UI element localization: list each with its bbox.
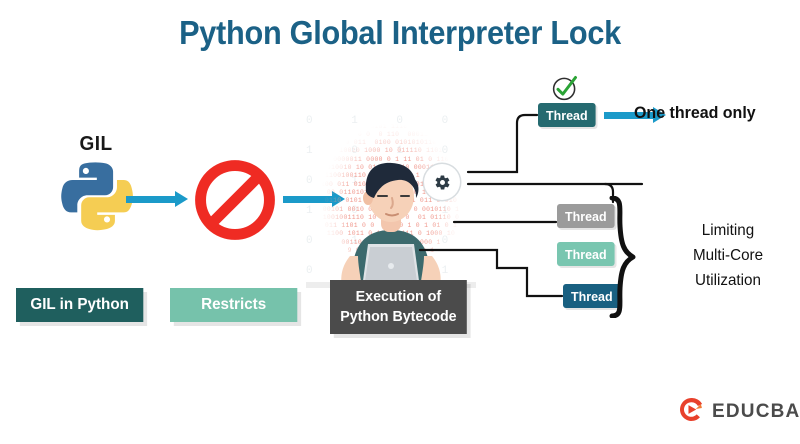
thread-box-top[interactable]: Thread <box>538 103 596 127</box>
thread-box-gray[interactable]: Thread <box>557 204 615 228</box>
limiting-line-3: Utilization <box>671 268 785 293</box>
chip-restricts[interactable]: Restricts <box>170 288 297 322</box>
one-thread-only-text: One thread only <box>634 103 756 123</box>
curly-brace-icon <box>608 196 638 318</box>
chip-gil-in-python[interactable]: GIL in Python <box>16 288 143 322</box>
infographic-canvas: Python Global Interpreter Lock GIL 0 1 0… <box>0 0 800 444</box>
prohibition-sign-icon <box>193 158 277 242</box>
page-title: Python Global Interpreter Lock <box>28 14 772 52</box>
chip-exec-line-2: Python Bytecode <box>340 307 456 327</box>
chip-execution-of-python-bytecode[interactable]: Execution of Python Bytecode <box>330 280 467 334</box>
chip-exec-line-1: Execution of <box>356 287 442 307</box>
gil-label: GIL <box>58 133 134 156</box>
limiting-line-2: Multi-Core <box>671 243 785 268</box>
limiting-line-1: Limiting <box>671 218 785 243</box>
limiting-multicore-text: Limiting Multi-Core Utilization <box>671 218 785 293</box>
python-logo-icon <box>58 157 134 233</box>
arrow-head <box>175 191 188 207</box>
thread-box-green[interactable]: Thread <box>557 242 615 266</box>
gear-icon <box>424 164 460 200</box>
check-circle-icon <box>551 74 579 102</box>
educba-logo-icon <box>678 396 705 428</box>
educba-wordmark: EDUCBA <box>712 401 800 423</box>
arrow-shaft <box>126 196 176 203</box>
developer-at-laptop-illustration: 0 1 0 0 1 1 0 1 0 0 0 1 0 1 0 1 0 0 1 1 … <box>306 106 476 288</box>
educba-logo[interactable]: EDUCBA <box>678 396 800 428</box>
arrow-gil-to-prohibition <box>126 191 188 207</box>
